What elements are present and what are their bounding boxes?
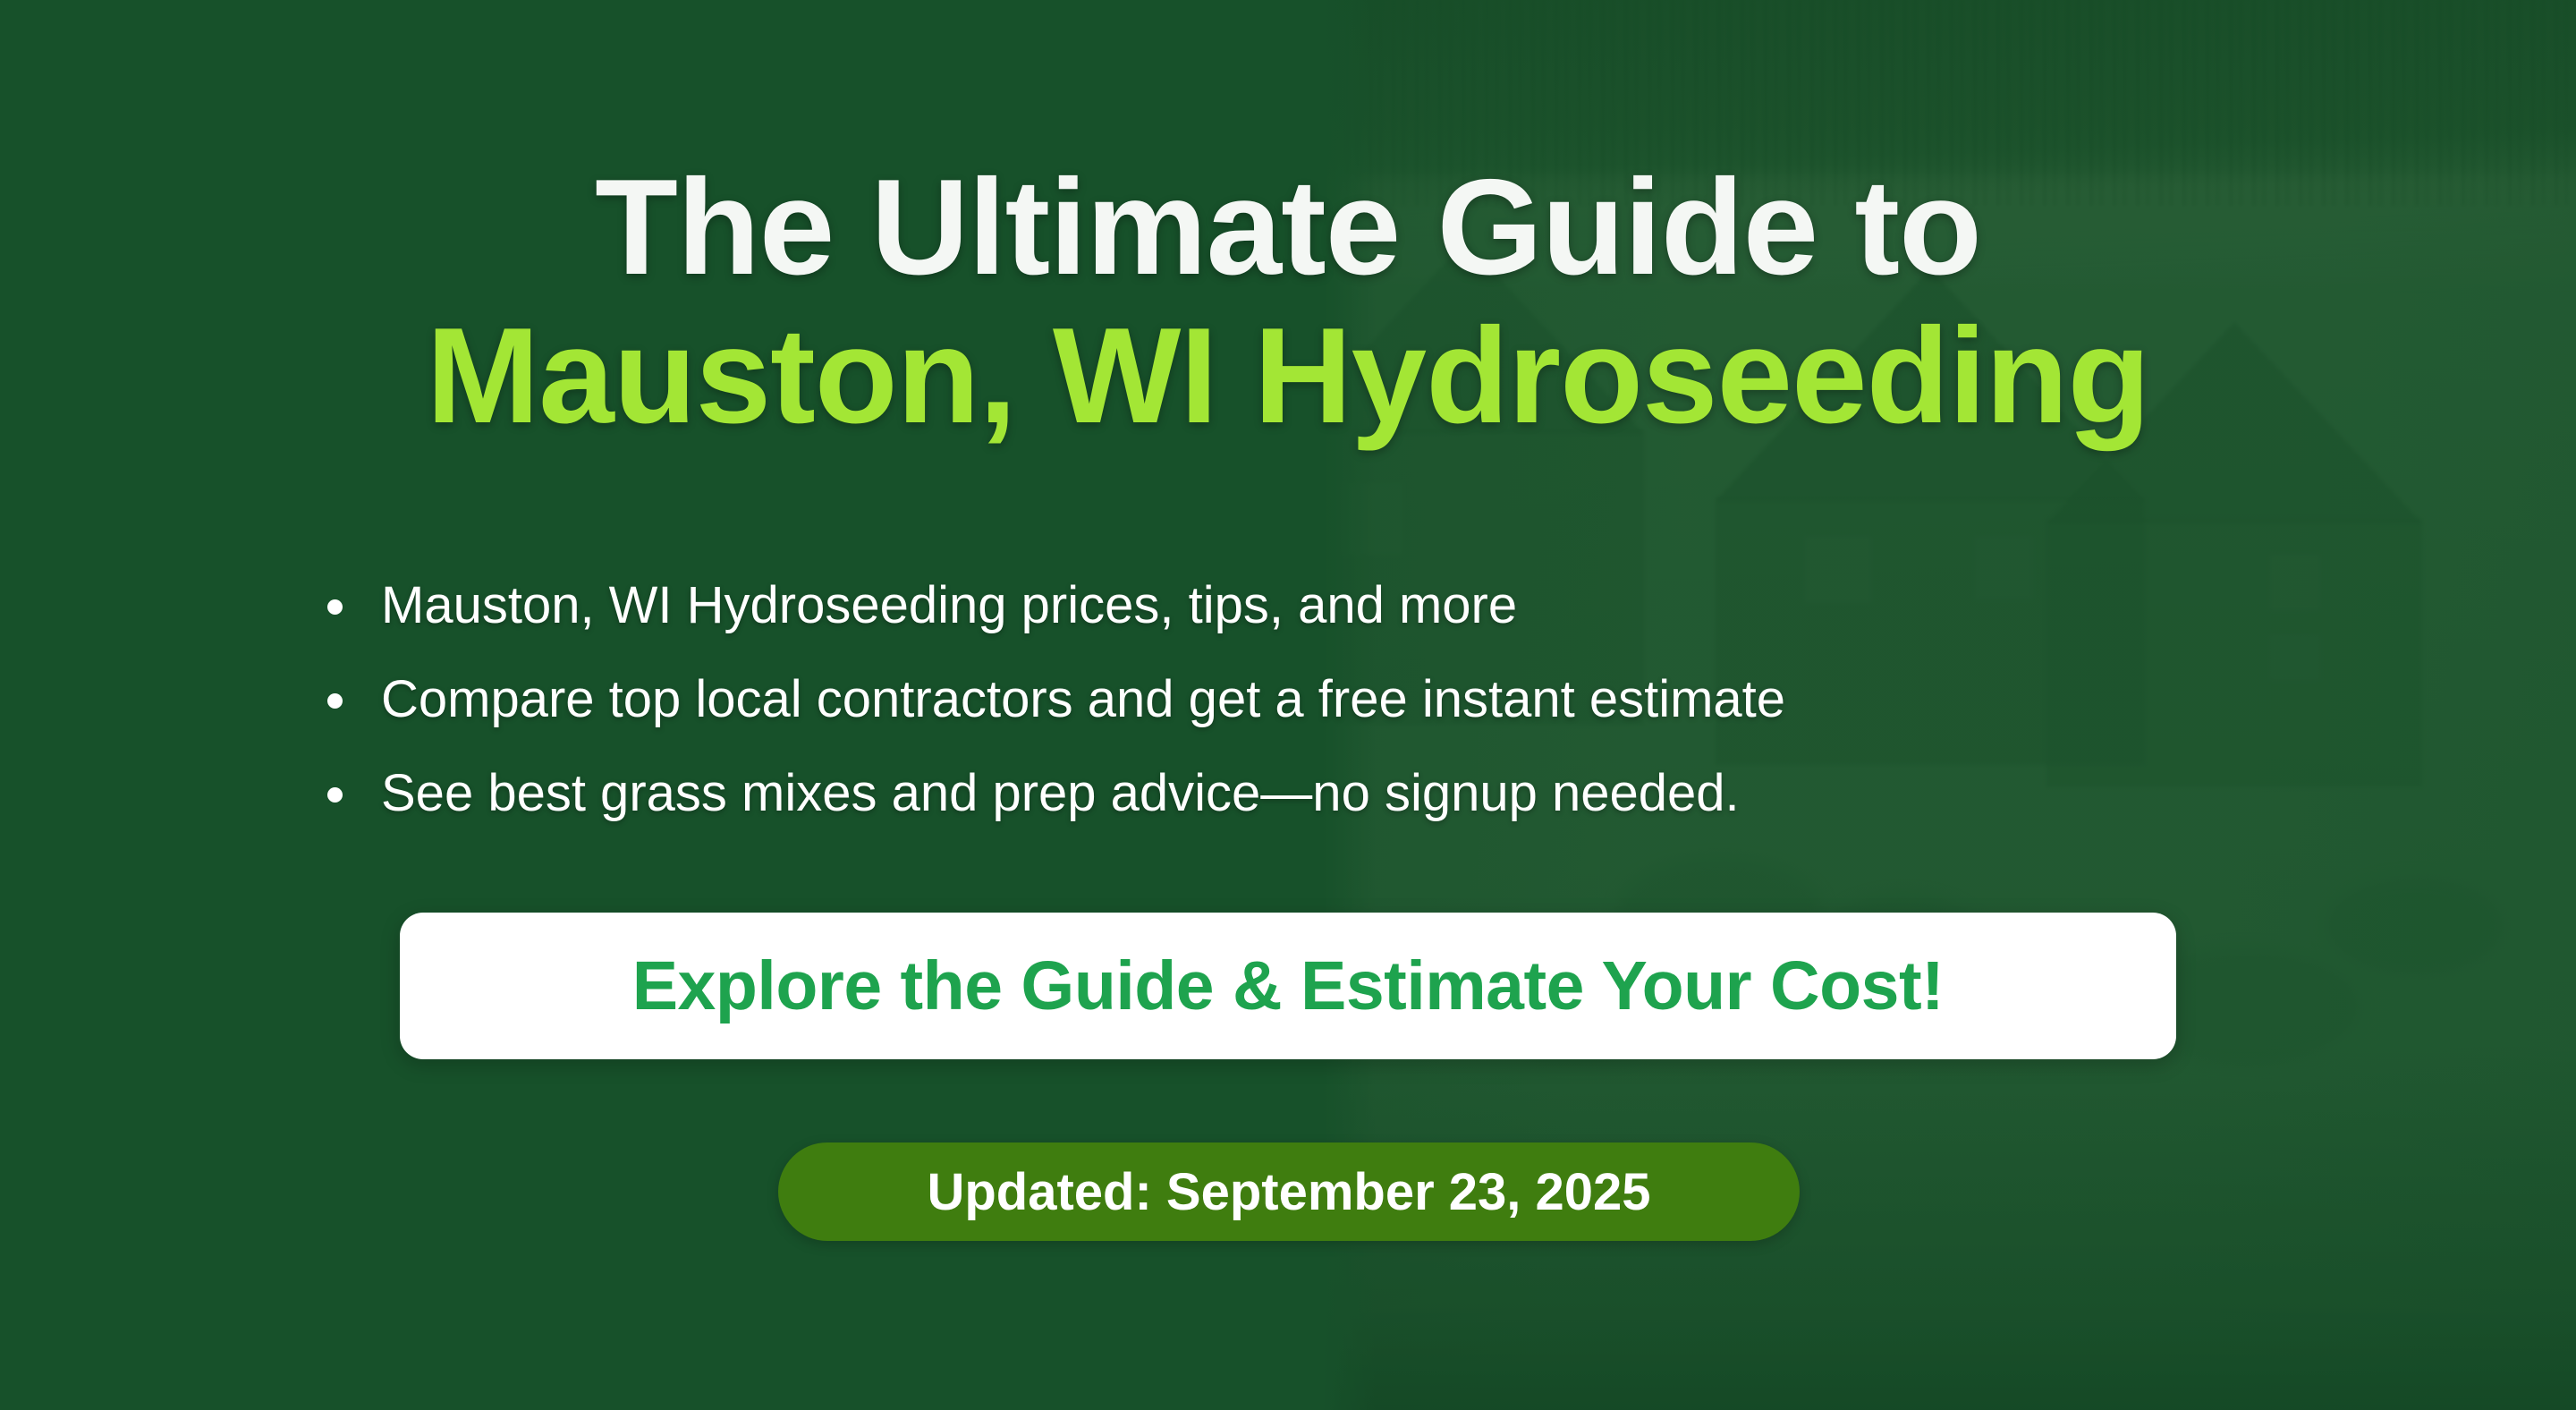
- list-item-label: Mauston, WI Hydroseeding prices, tips, a…: [381, 576, 1517, 634]
- benefits-list: Mauston, WI Hydroseeding prices, tips, a…: [318, 580, 2286, 820]
- page-title: The Ultimate Guide to Mauston, WI Hydros…: [0, 159, 2576, 444]
- bullet-icon: [327, 787, 343, 803]
- headline-line-2: Mauston, WI Hydroseeding: [0, 308, 2576, 444]
- explore-guide-button[interactable]: Explore the Guide & Estimate Your Cost!: [400, 913, 2176, 1059]
- bullet-icon: [327, 693, 343, 709]
- list-item: See best grass mixes and prep advice—no …: [318, 768, 2286, 820]
- list-item-label: Compare top local contractors and get a …: [381, 670, 1785, 728]
- list-item: Mauston, WI Hydroseeding prices, tips, a…: [318, 580, 2286, 632]
- bullet-icon: [327, 599, 343, 615]
- hero-banner: The Ultimate Guide to Mauston, WI Hydros…: [0, 0, 2576, 1410]
- banner-content: The Ultimate Guide to Mauston, WI Hydros…: [0, 0, 2576, 1410]
- list-item: Compare top local contractors and get a …: [318, 674, 2286, 726]
- list-item-label: See best grass mixes and prep advice—no …: [381, 764, 1740, 822]
- updated-date-badge: Updated: September 23, 2025: [778, 1142, 1800, 1241]
- headline-line-1: The Ultimate Guide to: [0, 159, 2576, 308]
